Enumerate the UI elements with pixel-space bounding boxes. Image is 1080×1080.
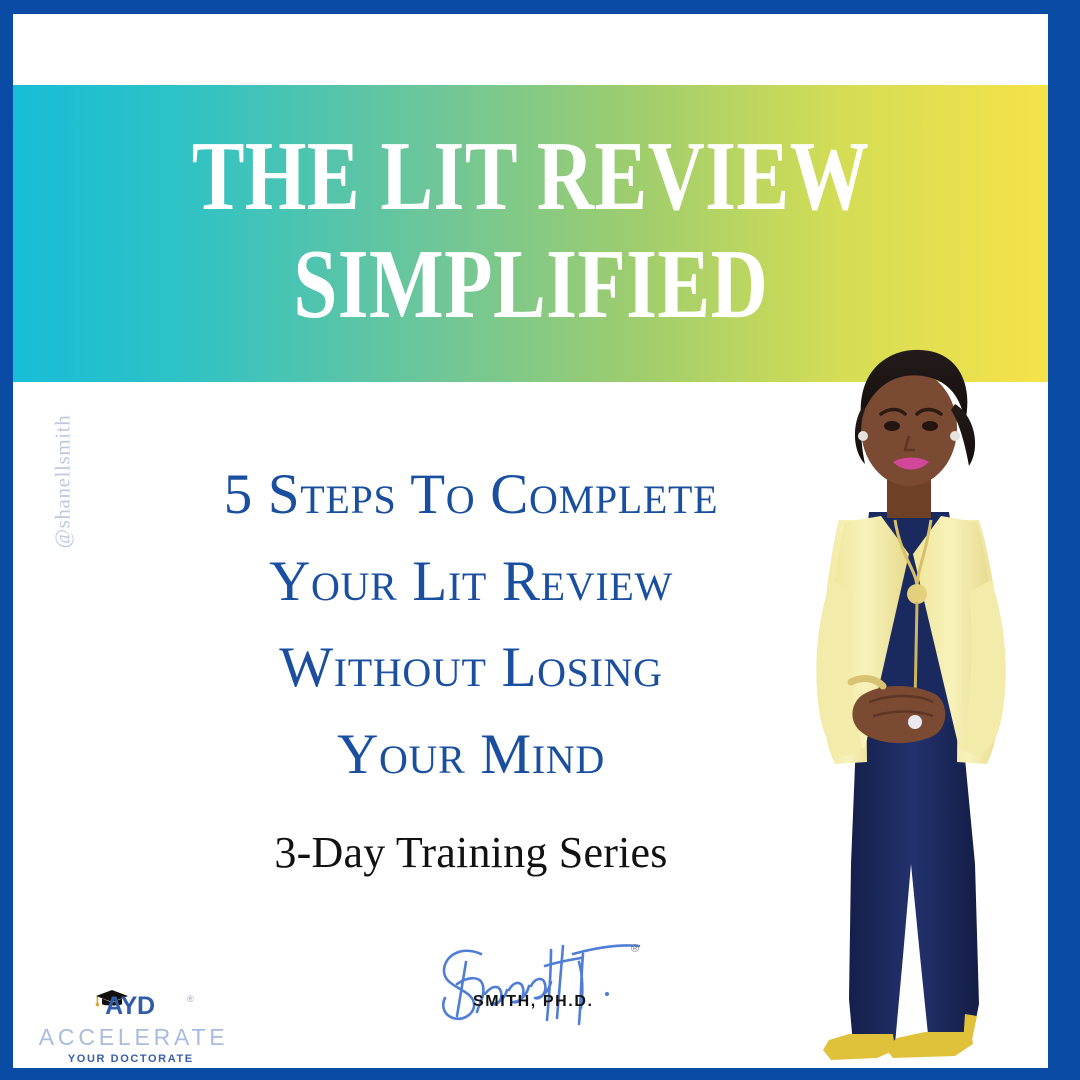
signature-block: SMITH, PH.D. ® xyxy=(433,932,663,1027)
signature-script-icon xyxy=(433,932,663,1027)
headline-line-1: 5 Steps To Complete xyxy=(91,452,851,539)
title-line-2: SIMPLIFIED xyxy=(293,236,768,334)
signature-name: SMITH, PH.D. xyxy=(473,993,594,1011)
headline-line-3: Without Losing xyxy=(91,625,851,712)
eye-right xyxy=(922,421,938,431)
logo-wordmark: ACCELERATE xyxy=(35,1024,225,1051)
necklace-pendant xyxy=(907,584,927,604)
brand-logo: AYD ® ACCELERATE YOUR DOCTORATE xyxy=(35,992,225,1062)
right-heel xyxy=(963,1014,977,1044)
eye-left xyxy=(884,421,900,431)
logo-mark-text: AYD xyxy=(35,992,225,1021)
headline-band: THE LIT REVIEW SIMPLIFIED xyxy=(13,85,1048,382)
logo-tagline: YOUR DOCTORATE xyxy=(35,1053,225,1065)
title-line-1: THE LIT REVIEW xyxy=(192,128,870,226)
ring xyxy=(908,715,922,729)
signature-period xyxy=(605,992,609,996)
signature-registered-mark: ® xyxy=(631,944,639,955)
logo-mark-wrap: AYD ® xyxy=(35,992,225,1022)
earring-left xyxy=(858,431,868,441)
headline-band-content: THE LIT REVIEW SIMPLIFIED xyxy=(13,85,1048,382)
earring-right xyxy=(950,431,960,441)
logo-registered-mark: ® xyxy=(187,994,194,1004)
headline-line-4: Your Mind xyxy=(91,712,851,799)
left-shoe xyxy=(823,1034,895,1060)
right-shoe xyxy=(885,1032,973,1058)
trousers xyxy=(849,716,979,1044)
poster-root: THE LIT REVIEW SIMPLIFIED xyxy=(0,0,1080,1080)
headline-copy: 5 Steps To Complete Your Lit Review With… xyxy=(91,452,851,799)
subtitle: 3-Day Training Series xyxy=(91,827,851,878)
headline-line-2: Your Lit Review xyxy=(91,539,851,626)
poster-canvas: THE LIT REVIEW SIMPLIFIED xyxy=(13,14,1048,1068)
handle-watermark: @shanellsmith xyxy=(51,392,76,572)
